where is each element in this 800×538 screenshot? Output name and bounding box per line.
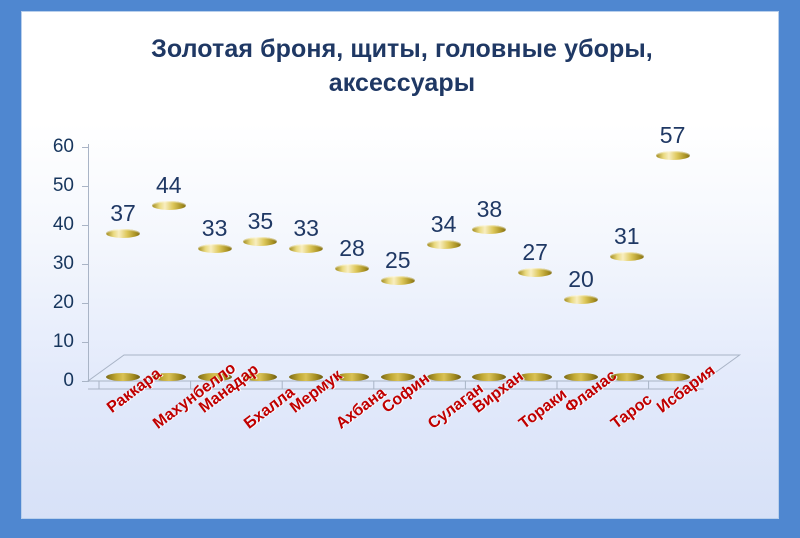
y-axis-tick — [82, 381, 89, 382]
plot-area: 0102030405060 37443335332825343827203157… — [22, 12, 778, 518]
bar-cylinder-body — [289, 248, 323, 377]
y-axis-tick-label: 30 — [32, 254, 74, 273]
value-label-2: 44 — [139, 174, 199, 197]
bar-3[interactable] — [198, 248, 232, 377]
category-label-12: Тарос — [608, 391, 656, 433]
bar-top-ellipse — [564, 295, 598, 304]
bar-4[interactable] — [243, 241, 277, 378]
bar-cylinder-body — [381, 280, 415, 378]
bar-cylinder-body — [472, 229, 506, 377]
bar-top-ellipse — [518, 268, 552, 277]
value-label-1: 37 — [93, 202, 153, 225]
y-axis-tick — [82, 147, 89, 148]
value-label-9: 38 — [459, 198, 519, 221]
value-label-11: 20 — [551, 268, 611, 291]
bar-cylinder-body — [152, 205, 186, 377]
y-axis-tick — [82, 264, 89, 265]
bar-2[interactable] — [152, 205, 186, 377]
bar-13[interactable] — [656, 155, 690, 377]
bar-top-ellipse — [610, 252, 644, 261]
bar-12[interactable] — [610, 256, 644, 377]
bar-top-ellipse — [106, 229, 140, 238]
bar-top-ellipse — [472, 225, 506, 234]
y-axis-tick — [82, 303, 89, 304]
bar-cylinder-body — [335, 268, 369, 377]
category-label-10: Тораки — [516, 386, 571, 434]
y-axis-tick-label: 20 — [32, 293, 74, 312]
bar-5[interactable] — [289, 248, 323, 377]
bar-cylinder-body — [106, 233, 140, 377]
bar-6[interactable] — [335, 268, 369, 377]
bar-8[interactable] — [427, 244, 461, 377]
y-axis-tick-label: 10 — [32, 332, 74, 351]
bar-top-ellipse — [656, 151, 690, 160]
value-label-10: 27 — [505, 241, 565, 264]
y-axis-tick-label: 0 — [32, 371, 74, 390]
bar-7[interactable] — [381, 280, 415, 378]
y-axis-tick — [82, 342, 89, 343]
bar-1[interactable] — [106, 233, 140, 377]
bar-10[interactable] — [518, 272, 552, 377]
bar-cylinder-body — [564, 299, 598, 377]
y-axis-tick-label: 60 — [32, 137, 74, 156]
bar-top-ellipse — [243, 237, 277, 246]
y-axis-tick — [82, 225, 89, 226]
value-label-12: 31 — [597, 225, 657, 248]
value-label-7: 25 — [368, 249, 428, 272]
bar-cylinder-body — [610, 256, 644, 377]
y-axis-tick-label: 40 — [32, 215, 74, 234]
value-label-13: 57 — [643, 124, 703, 147]
bar-cylinder-body — [427, 244, 461, 377]
image-border-frame: Золотая броня, щиты, головные уборы, акс… — [0, 0, 800, 538]
bar-cylinder-body — [656, 155, 690, 377]
y-axis-tick-label: 50 — [32, 176, 74, 195]
bar-9[interactable] — [472, 229, 506, 377]
y-axis-tick — [82, 186, 89, 187]
bar-top-ellipse — [381, 276, 415, 285]
bar-11[interactable] — [564, 299, 598, 377]
bar-cylinder-body — [243, 241, 277, 378]
bar-cylinder-body — [198, 248, 232, 377]
category-label-6: Ахбана — [333, 384, 390, 433]
bar-top-ellipse — [335, 264, 369, 273]
bar-cylinder-body — [518, 272, 552, 377]
y-axis-line — [88, 144, 89, 382]
chart-plate: Золотая броня, щиты, головные уборы, акс… — [22, 12, 778, 518]
